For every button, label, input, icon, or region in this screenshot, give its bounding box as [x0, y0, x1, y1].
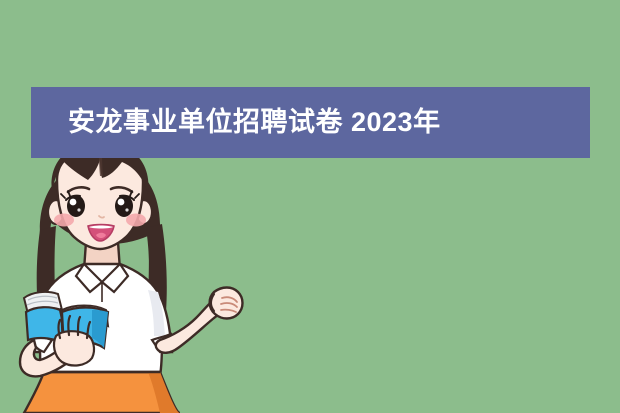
- blush-left: [54, 214, 74, 227]
- eye-right: [115, 195, 133, 217]
- eye-left-glint: [77, 208, 80, 211]
- skirt-group: [24, 372, 180, 413]
- cartoon-girl-illustration: [0, 140, 270, 413]
- blush-right: [126, 214, 146, 227]
- image-canvas: 安龙事业单位招聘试卷 2023年: [0, 0, 620, 413]
- eye-right-highlight: [118, 199, 125, 206]
- eye-right-glint: [125, 208, 128, 211]
- banner-title-text: 安龙事业单位招聘试卷 2023年: [31, 109, 441, 136]
- eye-left: [67, 195, 85, 217]
- eye-left-highlight: [70, 199, 77, 206]
- title-banner: 安龙事业单位招聘试卷 2023年: [31, 87, 590, 158]
